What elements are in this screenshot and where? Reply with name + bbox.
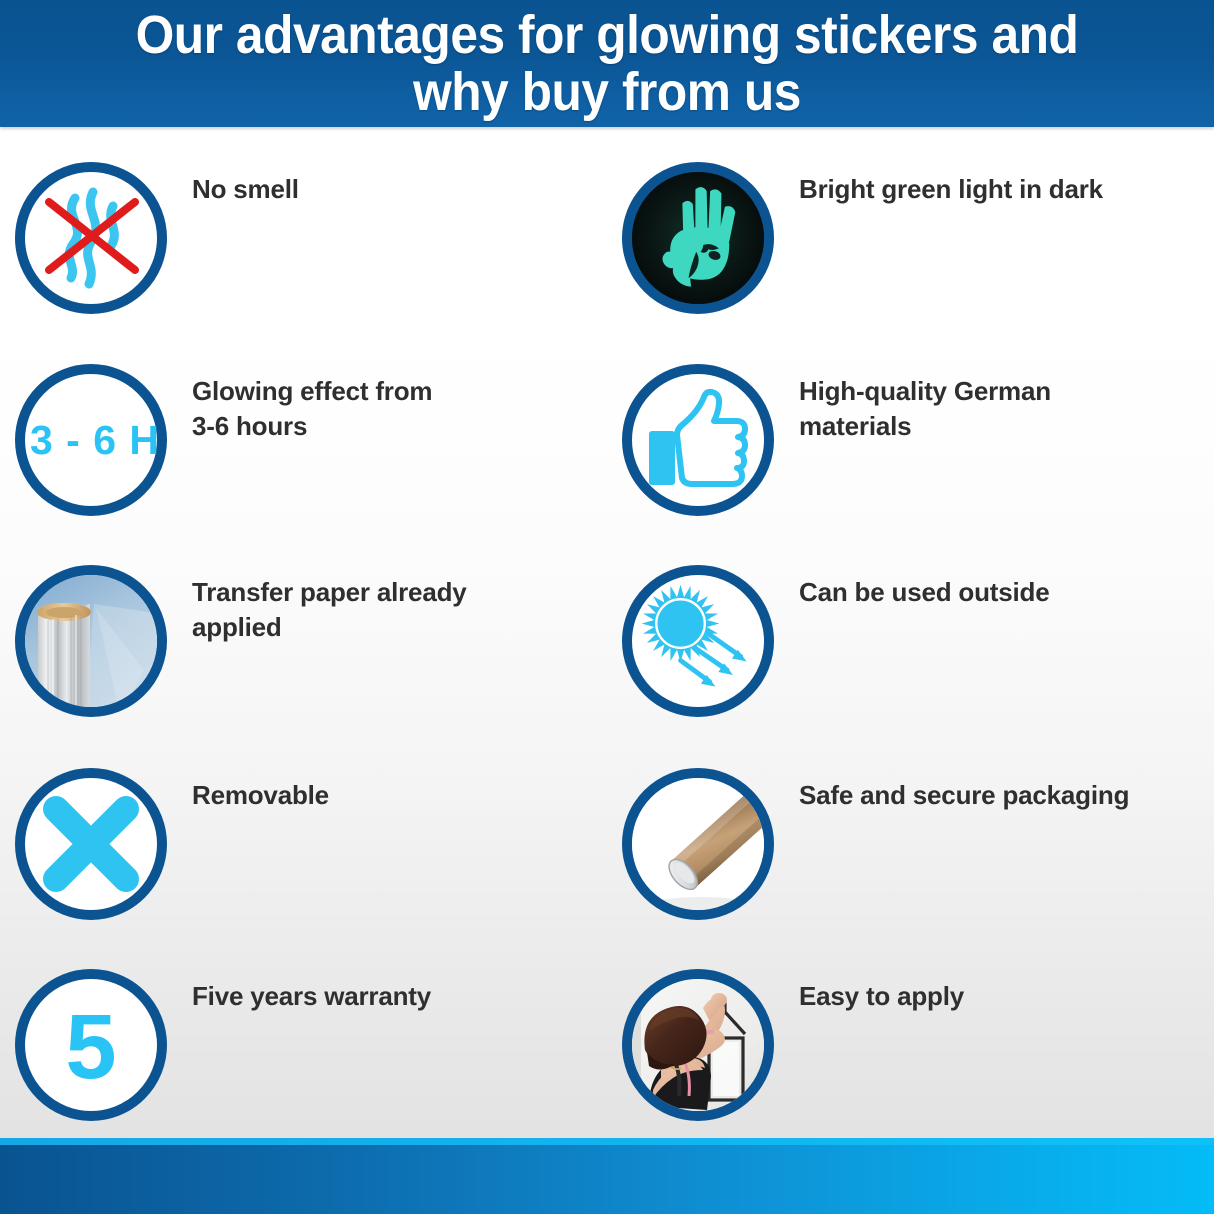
features-grid: No smell bbox=[0, 127, 1214, 1137]
feature-no-smell: No smell bbox=[0, 162, 607, 314]
sun-rays-badge bbox=[622, 565, 774, 717]
feature-row: 3 - 6 H Glowing effect from 3-6 hours Hi… bbox=[0, 364, 1214, 516]
no-smell-icon bbox=[25, 172, 157, 304]
cross-x-icon bbox=[36, 789, 146, 899]
feature-label: Bright green light in dark bbox=[799, 172, 1103, 207]
feature-label: Transfer paper already applied bbox=[192, 575, 467, 645]
feature-label: Glowing effect from 3-6 hours bbox=[192, 374, 432, 444]
mailing-tube-badge bbox=[622, 768, 774, 920]
feature-safe-packaging: Safe and secure packaging bbox=[607, 768, 1214, 920]
feature-removable: Removable bbox=[0, 768, 607, 920]
footer-banner bbox=[0, 1145, 1214, 1214]
transfer-paper-roll-icon bbox=[24, 574, 167, 717]
woman-applying-decal-icon bbox=[631, 978, 774, 1121]
feature-row: Removable bbox=[0, 768, 1214, 920]
warranty-number-icon: 5 bbox=[65, 1001, 116, 1093]
feature-row: Transfer paper already applied bbox=[0, 565, 1214, 717]
header-inner: Our advantages for glowing stickers and … bbox=[0, 7, 1214, 121]
header-banner: Our advantages for glowing stickers and … bbox=[0, 0, 1214, 127]
feature-row: No smell bbox=[0, 162, 1214, 314]
feature-row: 5 Five years warranty bbox=[0, 969, 1214, 1121]
feature-easy-apply: Easy to apply bbox=[607, 969, 1214, 1121]
footer-accent-strip bbox=[0, 1138, 1214, 1145]
feature-label: High-quality German materials bbox=[799, 374, 1169, 444]
feature-transfer-paper: Transfer paper already applied bbox=[0, 565, 607, 717]
transfer-paper-roll-badge bbox=[15, 565, 167, 717]
infographic-page: Our advantages for glowing stickers and … bbox=[0, 0, 1214, 1214]
no-smell-badge bbox=[15, 162, 167, 314]
sun-rays-icon bbox=[632, 573, 764, 709]
feature-label: Safe and secure packaging bbox=[799, 778, 1129, 813]
feature-label: Easy to apply bbox=[799, 979, 964, 1014]
duration-hours-icon: 3 - 6 H bbox=[30, 420, 160, 461]
thumbs-up-icon bbox=[637, 379, 759, 501]
feature-label: Can be used outside bbox=[799, 575, 1049, 610]
thumbs-up-badge bbox=[622, 364, 774, 516]
feature-label: No smell bbox=[192, 172, 299, 207]
glowing-handprint-icon bbox=[632, 162, 764, 314]
feature-german-materials: High-quality German materials bbox=[607, 364, 1214, 516]
feature-warranty: 5 Five years warranty bbox=[0, 969, 607, 1121]
duration-hours-badge: 3 - 6 H bbox=[15, 364, 167, 516]
feature-label: Five years warranty bbox=[192, 979, 431, 1014]
cross-x-badge bbox=[15, 768, 167, 920]
woman-applying-decal-badge bbox=[622, 969, 774, 1121]
warranty-number-badge: 5 bbox=[15, 969, 167, 1121]
glowing-handprint-badge bbox=[622, 162, 774, 314]
page-title: Our advantages for glowing stickers and … bbox=[58, 7, 1156, 121]
feature-glowing-effect: 3 - 6 H Glowing effect from 3-6 hours bbox=[0, 364, 607, 516]
mailing-tube-icon bbox=[631, 777, 774, 920]
feature-bright-green: Bright green light in dark bbox=[607, 162, 1214, 314]
feature-outside-use: Can be used outside bbox=[607, 565, 1214, 717]
feature-label: Removable bbox=[192, 778, 329, 813]
